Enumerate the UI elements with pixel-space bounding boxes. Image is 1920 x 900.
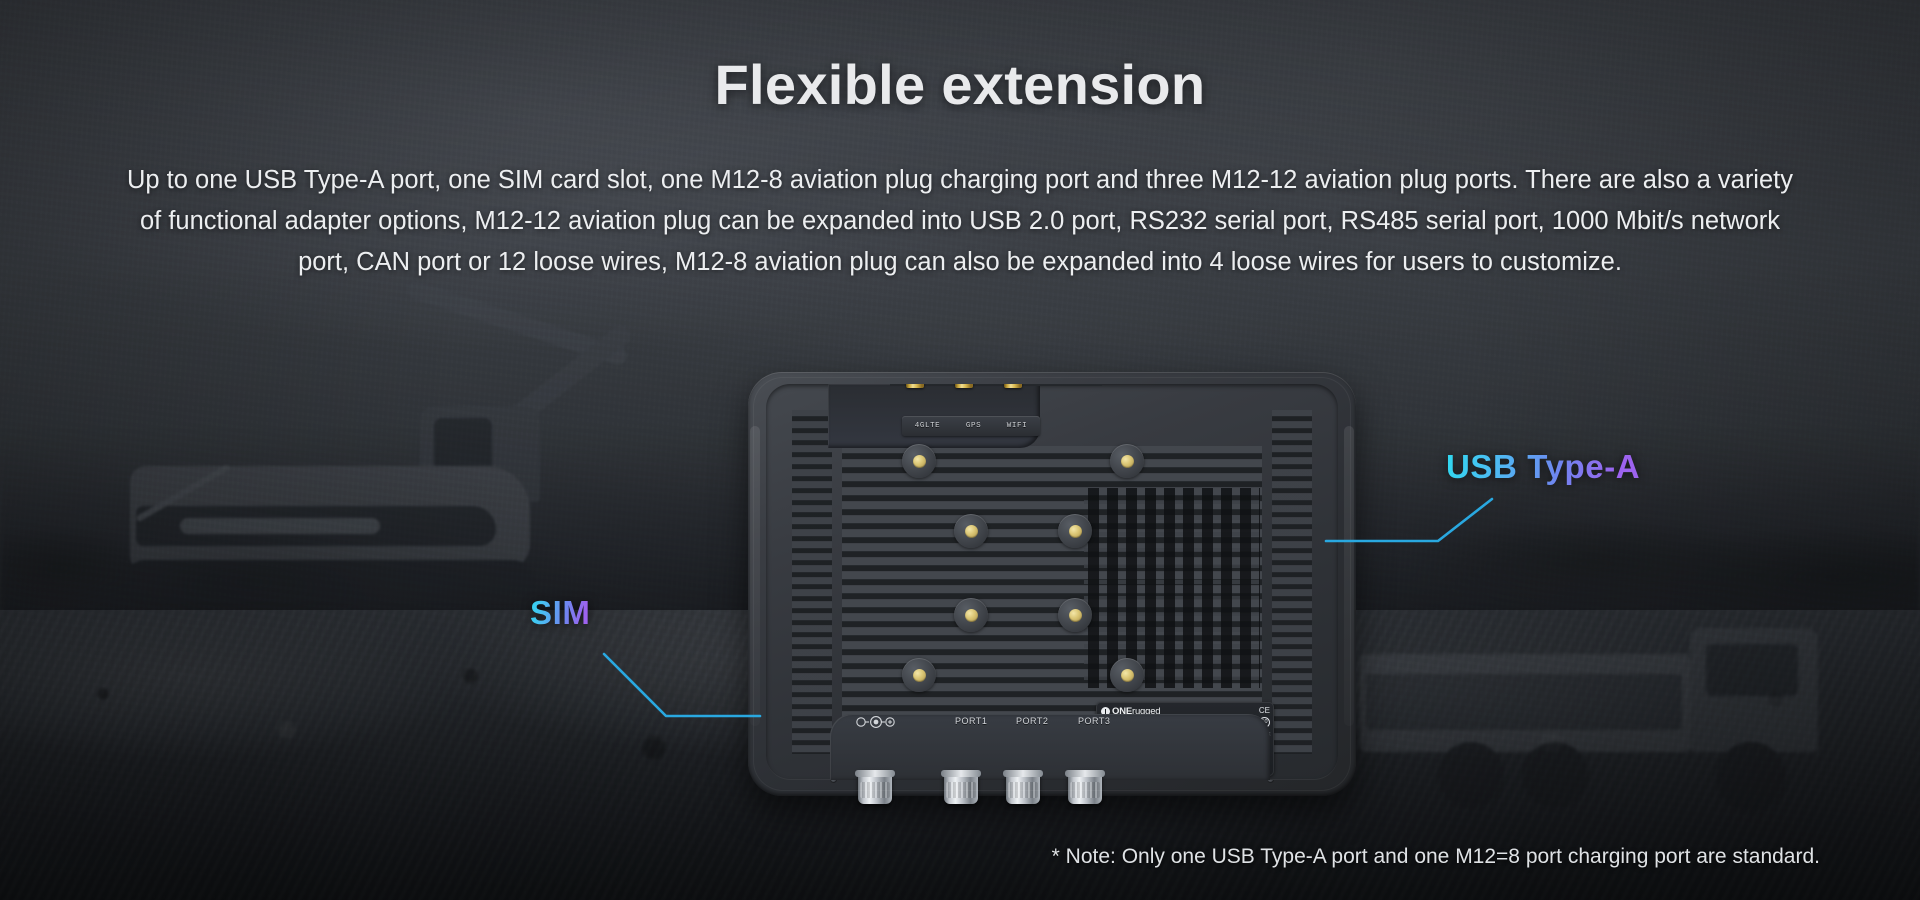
- port3-label: PORT3: [1078, 716, 1110, 726]
- certification-marks: CE 10 CCC: [1224, 706, 1270, 741]
- power-icon: [855, 716, 897, 728]
- screw-boss: [1058, 514, 1092, 548]
- brand-prefix: ONE: [1112, 706, 1132, 717]
- heatsink-fins-right: [1272, 410, 1312, 754]
- product-label-sticker: ONErugged MODEL NO.(型号): V80J DC RATING(…: [1096, 702, 1274, 776]
- m12-12-connector-port3: [1068, 770, 1102, 804]
- heatsink-fins-left: [792, 410, 832, 754]
- sma-connector-4glte: [906, 384, 924, 388]
- brand-logo: ONErugged: [1101, 706, 1269, 717]
- heatsink-fins-center: [842, 446, 1262, 726]
- ccc-mark: CCC: [1259, 730, 1270, 741]
- rugged-tablet-rear-view: 4GLTE GPS WIFI ONEr: [748, 372, 1356, 808]
- device-outer-bumper: 4GLTE GPS WIFI ONEr: [748, 372, 1356, 796]
- port1-label: PORT1: [955, 716, 987, 726]
- ce-mark: CE: [1259, 706, 1270, 715]
- antenna-bay: 4GLTE GPS WIFI: [828, 384, 1040, 448]
- sticker-zone-label: 标签区1: [1101, 732, 1244, 773]
- port2-label: PORT2: [1016, 716, 1048, 726]
- sma-connector-gps: [955, 384, 973, 388]
- page-title: Flexible extension: [0, 52, 1920, 117]
- vent-hole-grid: [1084, 488, 1260, 688]
- antenna-bay-cover: [890, 384, 1102, 386]
- brand-suffix: rugged: [1132, 706, 1160, 717]
- screw-boss: [1058, 598, 1092, 632]
- hero-description: Up to one USB Type-A port, one SIM card …: [120, 160, 1800, 283]
- screw-boss: [902, 658, 936, 692]
- screw-boss: [954, 514, 988, 548]
- brand-mark-icon: [1101, 707, 1110, 716]
- antenna-label-wifi: WIFI: [1007, 422, 1027, 430]
- sticker-fine-print: MODEL NO.(型号): V80J DC RATING(直流额定): 19V…: [1101, 718, 1219, 728]
- rohs-10-mark: 10: [1259, 717, 1270, 728]
- m12-12-connector-port2: [1006, 770, 1040, 804]
- callout-label-usb: USB Type-A: [1446, 448, 1640, 486]
- sma-connector-wifi: [1004, 384, 1022, 388]
- screw-boss: [902, 444, 936, 478]
- m12-12-connector-port1: [944, 770, 978, 804]
- screw-boss: [954, 598, 988, 632]
- hero-section: Flexible extension Up to one USB Type-A …: [0, 0, 1920, 900]
- device-heatsink-plate: 4GLTE GPS WIFI ONEr: [766, 384, 1338, 780]
- bottom-connector-bay: [830, 714, 1270, 780]
- callout-label-sim: SIM: [530, 594, 590, 632]
- m12-8-charging-connector: [858, 770, 892, 804]
- hero-footnote: * Note: Only one USB Type-A port and one…: [0, 845, 1820, 869]
- screw-boss: [1110, 658, 1144, 692]
- antenna-label-4glte: 4GLTE: [915, 422, 941, 430]
- leader-line-usb: [1326, 495, 1496, 585]
- antenna-label-strip: 4GLTE GPS WIFI: [902, 416, 1040, 436]
- screw-boss: [1110, 444, 1144, 478]
- antenna-label-gps: GPS: [966, 422, 981, 430]
- leader-line-sim: [600, 650, 760, 750]
